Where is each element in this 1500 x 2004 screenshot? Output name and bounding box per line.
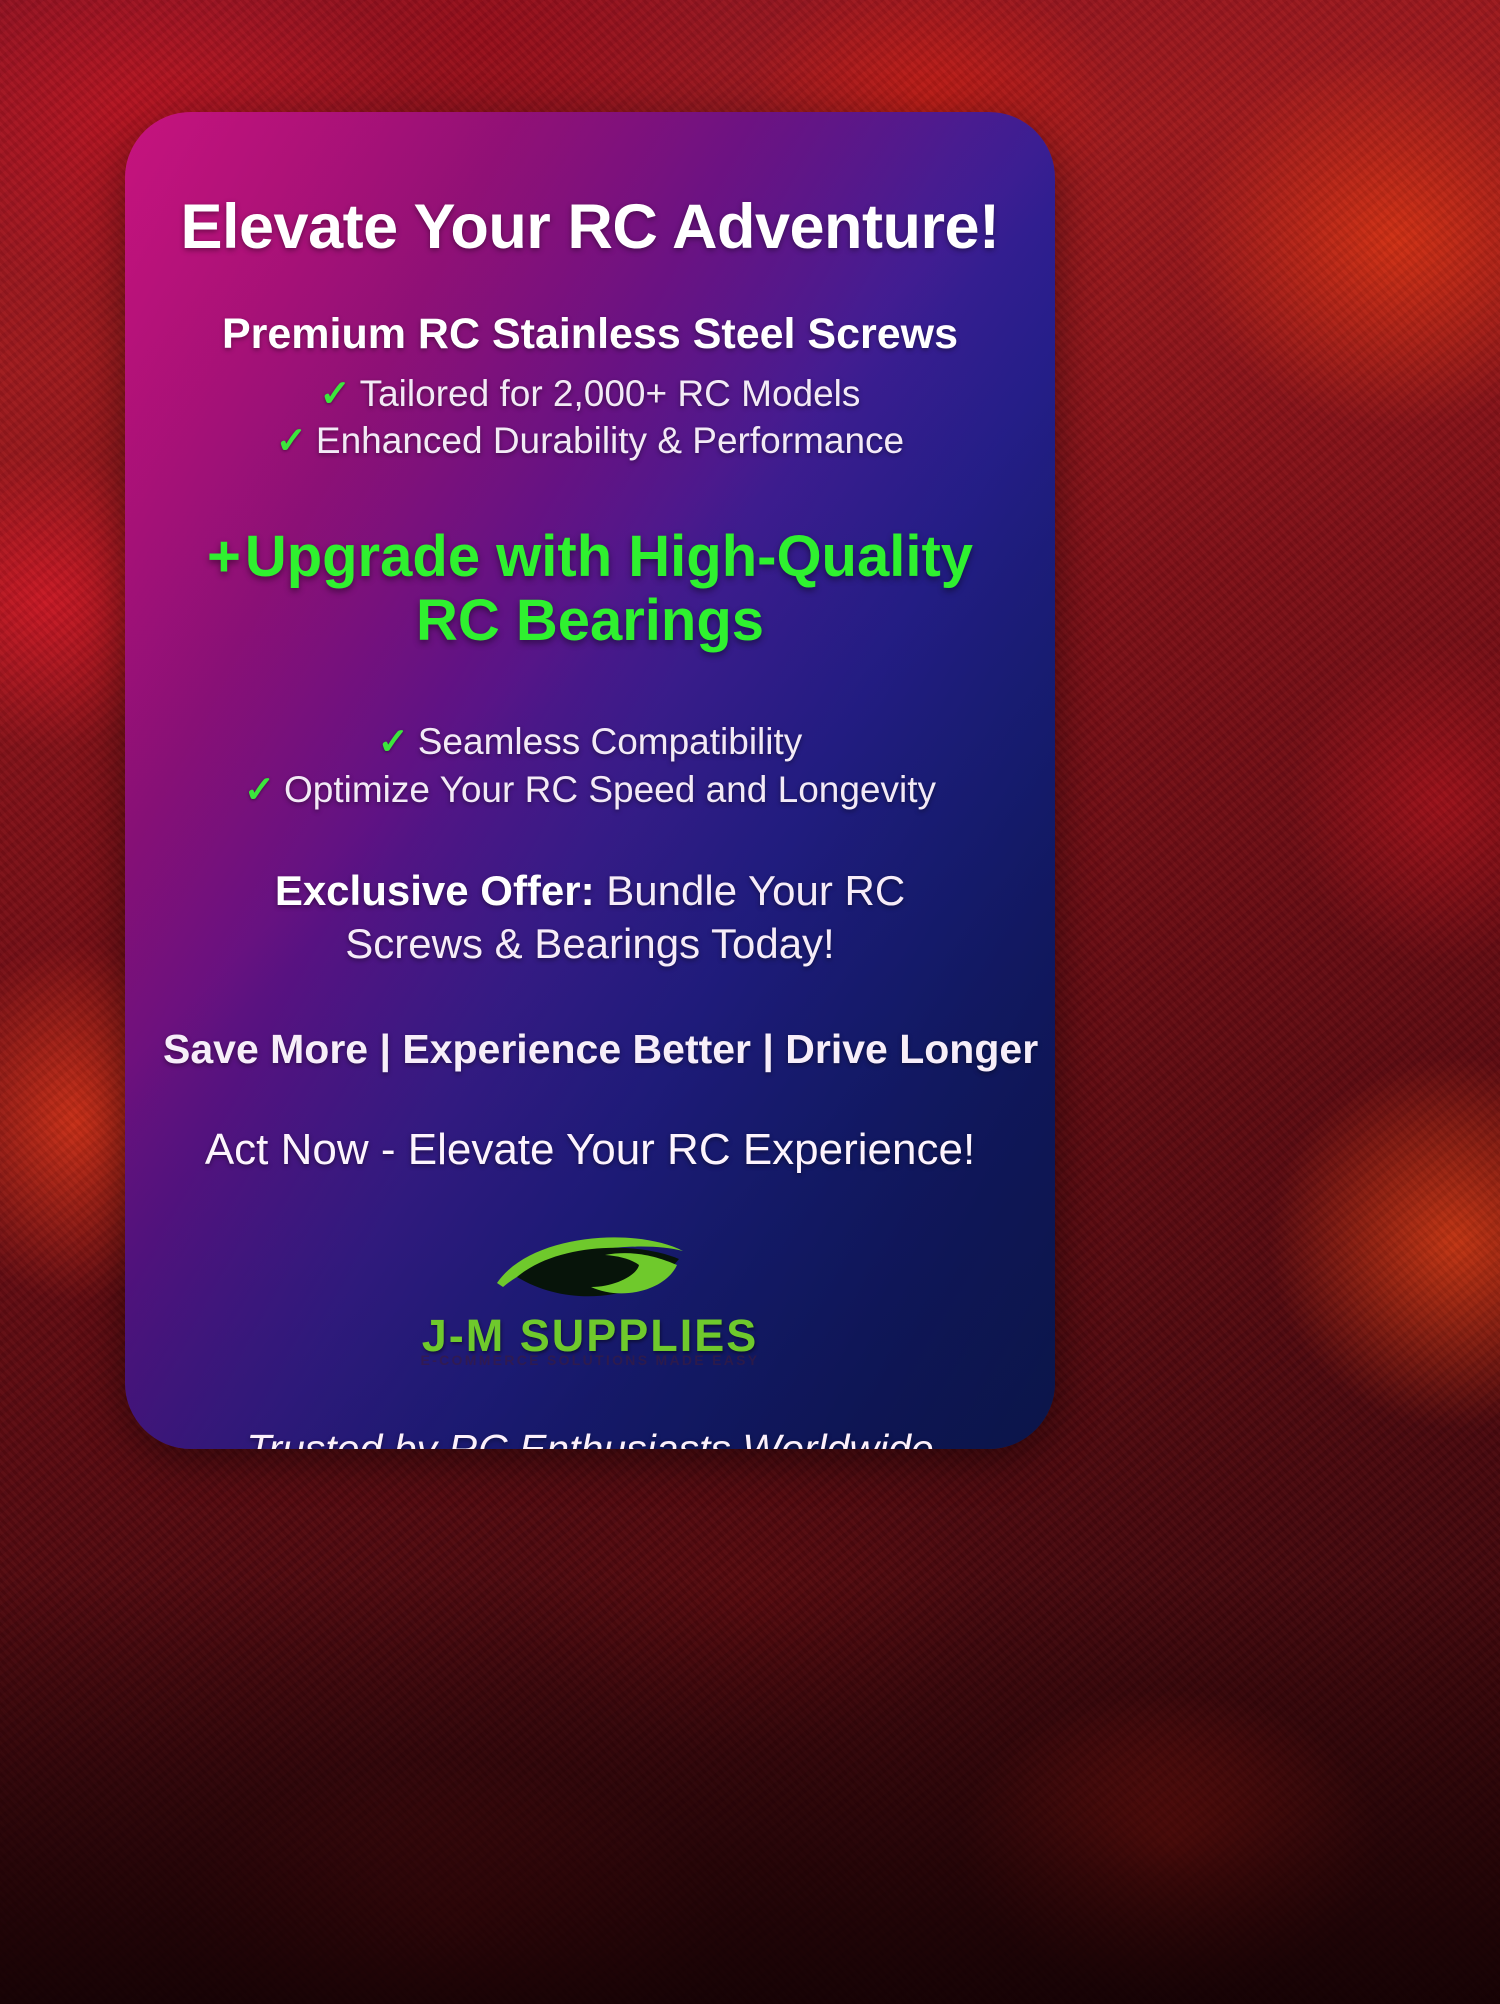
- check-icon: ✓: [378, 721, 409, 762]
- list-item: ✓Tailored for 2,000+ RC Models: [163, 370, 1017, 417]
- card-content: Elevate Your RC Adventure! Premium RC St…: [163, 112, 1017, 1449]
- check-icon: ✓: [276, 420, 307, 461]
- list-item: ✓Optimize Your RC Speed and Longevity: [163, 766, 1017, 813]
- plus-sign: +: [207, 524, 241, 589]
- upgrade-headline-line2: RC Bearings: [416, 588, 764, 653]
- offer-line1-rest: Bundle Your RC: [595, 867, 906, 914]
- list-item: ✓Enhanced Durability & Performance: [163, 417, 1017, 464]
- product-subheading: Premium RC Stainless Steel Screws: [163, 311, 1017, 358]
- check-icon: ✓: [244, 769, 275, 810]
- list-item-label: Seamless Compatibility: [418, 721, 803, 762]
- primary-feature-list: ✓Tailored for 2,000+ RC Models ✓Enhanced…: [163, 370, 1017, 465]
- offer-label: Exclusive Offer:: [275, 867, 595, 914]
- list-item-label: Optimize Your RC Speed and Longevity: [284, 769, 936, 810]
- page-title: Elevate Your RC Adventure!: [163, 112, 1017, 261]
- eye-logo-icon: [487, 1225, 693, 1311]
- secondary-feature-list: ✓Seamless Compatibility ✓Optimize Your R…: [163, 718, 1017, 813]
- upgrade-headline-line1: Upgrade with High-Quality: [245, 524, 973, 589]
- check-icon: ✓: [320, 373, 351, 414]
- list-item-label: Tailored for 2,000+ RC Models: [360, 373, 861, 414]
- exclusive-offer-text: Exclusive Offer: Bundle Your RC Screws &…: [163, 865, 1017, 970]
- offer-line2: Screws & Bearings Today!: [345, 920, 834, 967]
- trust-line: Trusted by RC Enthusiasts Worldwide: [163, 1426, 1017, 1449]
- call-to-action-text: Act Now - Elevate Your RC Experience!: [163, 1125, 1017, 1175]
- brand-logo: J-M SUPPLIES E-COMMERCE SOLUTIONS MADE E…: [163, 1225, 1017, 1368]
- background-bottom-vignette: [0, 1574, 1500, 2004]
- logo-tagline: E-COMMERCE SOLUTIONS MADE EASY: [163, 1352, 1017, 1368]
- promo-card: Elevate Your RC Adventure! Premium RC St…: [125, 112, 1055, 1449]
- list-item: ✓Seamless Compatibility: [163, 718, 1017, 765]
- upgrade-headline: +Upgrade with High-Quality RC Bearings: [163, 525, 1017, 653]
- benefits-line: Save More | Experience Better | Drive Lo…: [163, 1026, 1017, 1073]
- list-item-label: Enhanced Durability & Performance: [316, 420, 904, 461]
